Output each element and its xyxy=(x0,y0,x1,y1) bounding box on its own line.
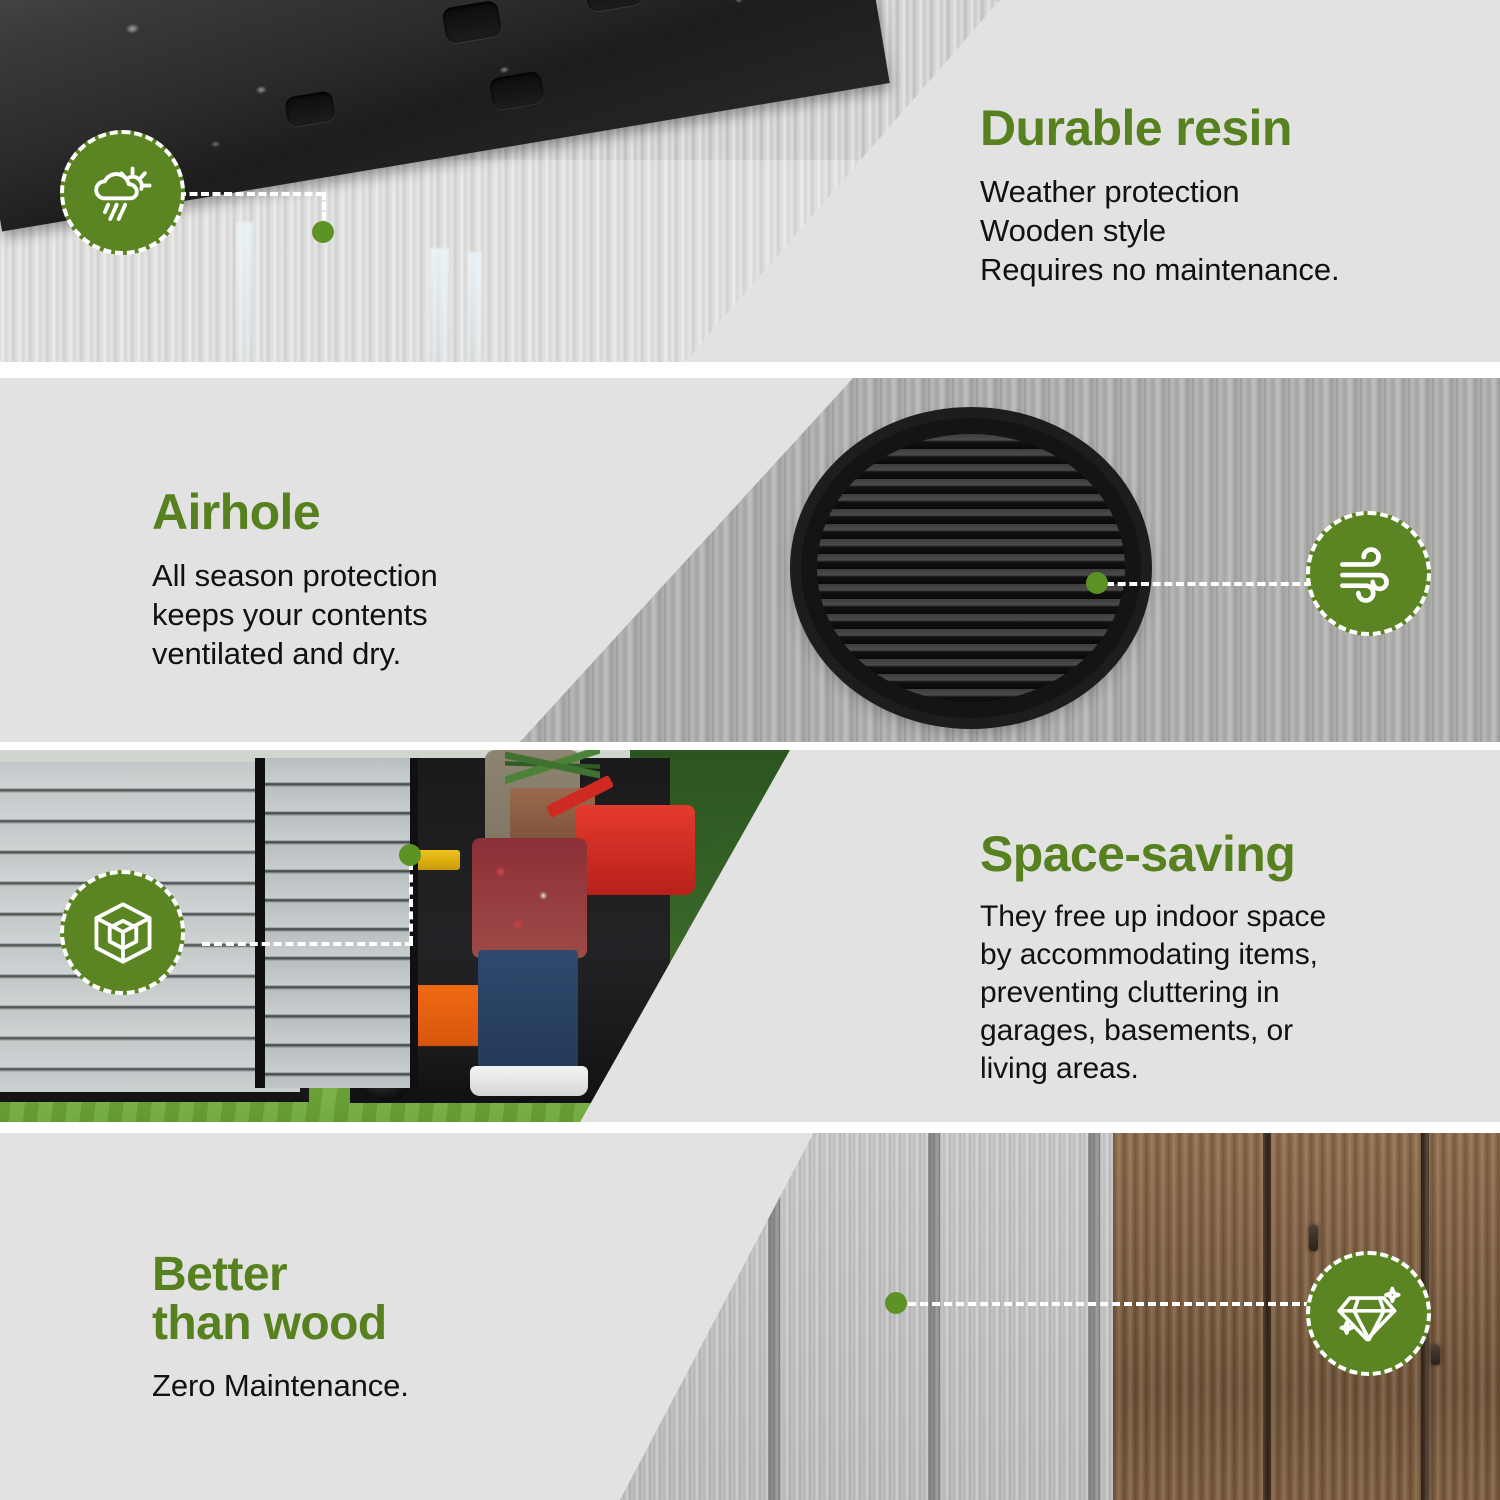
panel-body: They free up indoor space by accommodati… xyxy=(980,898,1326,1088)
person-jeans xyxy=(478,950,578,1070)
drain-slot xyxy=(583,0,644,13)
connector-line-horizontal xyxy=(1106,582,1312,586)
drain-slot xyxy=(489,71,546,111)
water-stream xyxy=(468,252,482,362)
drain-slot xyxy=(284,90,336,128)
nail xyxy=(1431,1345,1440,1365)
panel-text-better-than-wood: Better than wood Zero Maintenance. xyxy=(152,1250,409,1405)
panel-body: Zero Maintenance. xyxy=(152,1366,409,1405)
panel-divider xyxy=(0,362,1500,378)
panel-text-space-saving: Space-saving They free up indoor space b… xyxy=(980,829,1326,1088)
feature-panel-better-than-wood: Better than wood Zero Maintenance. xyxy=(0,1133,1500,1500)
callout-dot xyxy=(1086,572,1108,594)
drain-slot xyxy=(441,0,502,44)
nail xyxy=(1309,1225,1318,1251)
panel-text-airhole: Airhole All season protection keeps your… xyxy=(152,487,438,674)
shed-door xyxy=(255,758,418,1088)
wind-icon xyxy=(1306,511,1431,636)
water-stream xyxy=(430,248,449,362)
feature-panel-space-saving: Space-saving They free up indoor space b… xyxy=(0,750,1500,1122)
callout-dot xyxy=(399,844,421,866)
rain-cloud-sun-icon xyxy=(60,130,185,255)
diamond-sparkle-icon xyxy=(1306,1251,1431,1376)
panel-body: Weather protection Wooden style Requires… xyxy=(980,172,1340,290)
connector-line-horizontal xyxy=(202,942,413,946)
panel-headline: Durable resin xyxy=(980,103,1340,155)
panel-headline: Better than wood xyxy=(152,1250,409,1349)
panel-body: All season protection keeps your content… xyxy=(152,556,438,674)
panel-headline: Airhole xyxy=(152,487,438,539)
person-shoes xyxy=(470,1066,588,1096)
connector-line-horizontal xyxy=(908,1302,1312,1306)
product-feature-infographic: Durable resin Weather protection Wooden … xyxy=(0,0,1500,1500)
vent-louvers xyxy=(817,434,1125,702)
panel-divider xyxy=(0,742,1500,750)
callout-dot xyxy=(885,1292,907,1314)
person-shirt xyxy=(472,838,587,958)
water-stream xyxy=(236,222,253,362)
resin-siding-sample xyxy=(620,1133,1113,1500)
feature-panel-durable-resin: Durable resin Weather protection Wooden … xyxy=(0,0,1500,362)
cube-box-icon xyxy=(60,870,185,995)
connector-line-horizontal xyxy=(178,192,324,196)
air-vent xyxy=(801,418,1141,718)
watering-can xyxy=(575,805,695,895)
callout-dot xyxy=(312,221,334,243)
connector-line-vertical xyxy=(409,862,413,944)
panel-headline: Space-saving xyxy=(980,829,1326,881)
panel-text-durable-resin: Durable resin Weather protection Wooden … xyxy=(980,103,1340,290)
feature-panel-airhole: Airhole All season protection keeps your… xyxy=(0,378,1500,742)
panel-divider xyxy=(0,1122,1500,1133)
